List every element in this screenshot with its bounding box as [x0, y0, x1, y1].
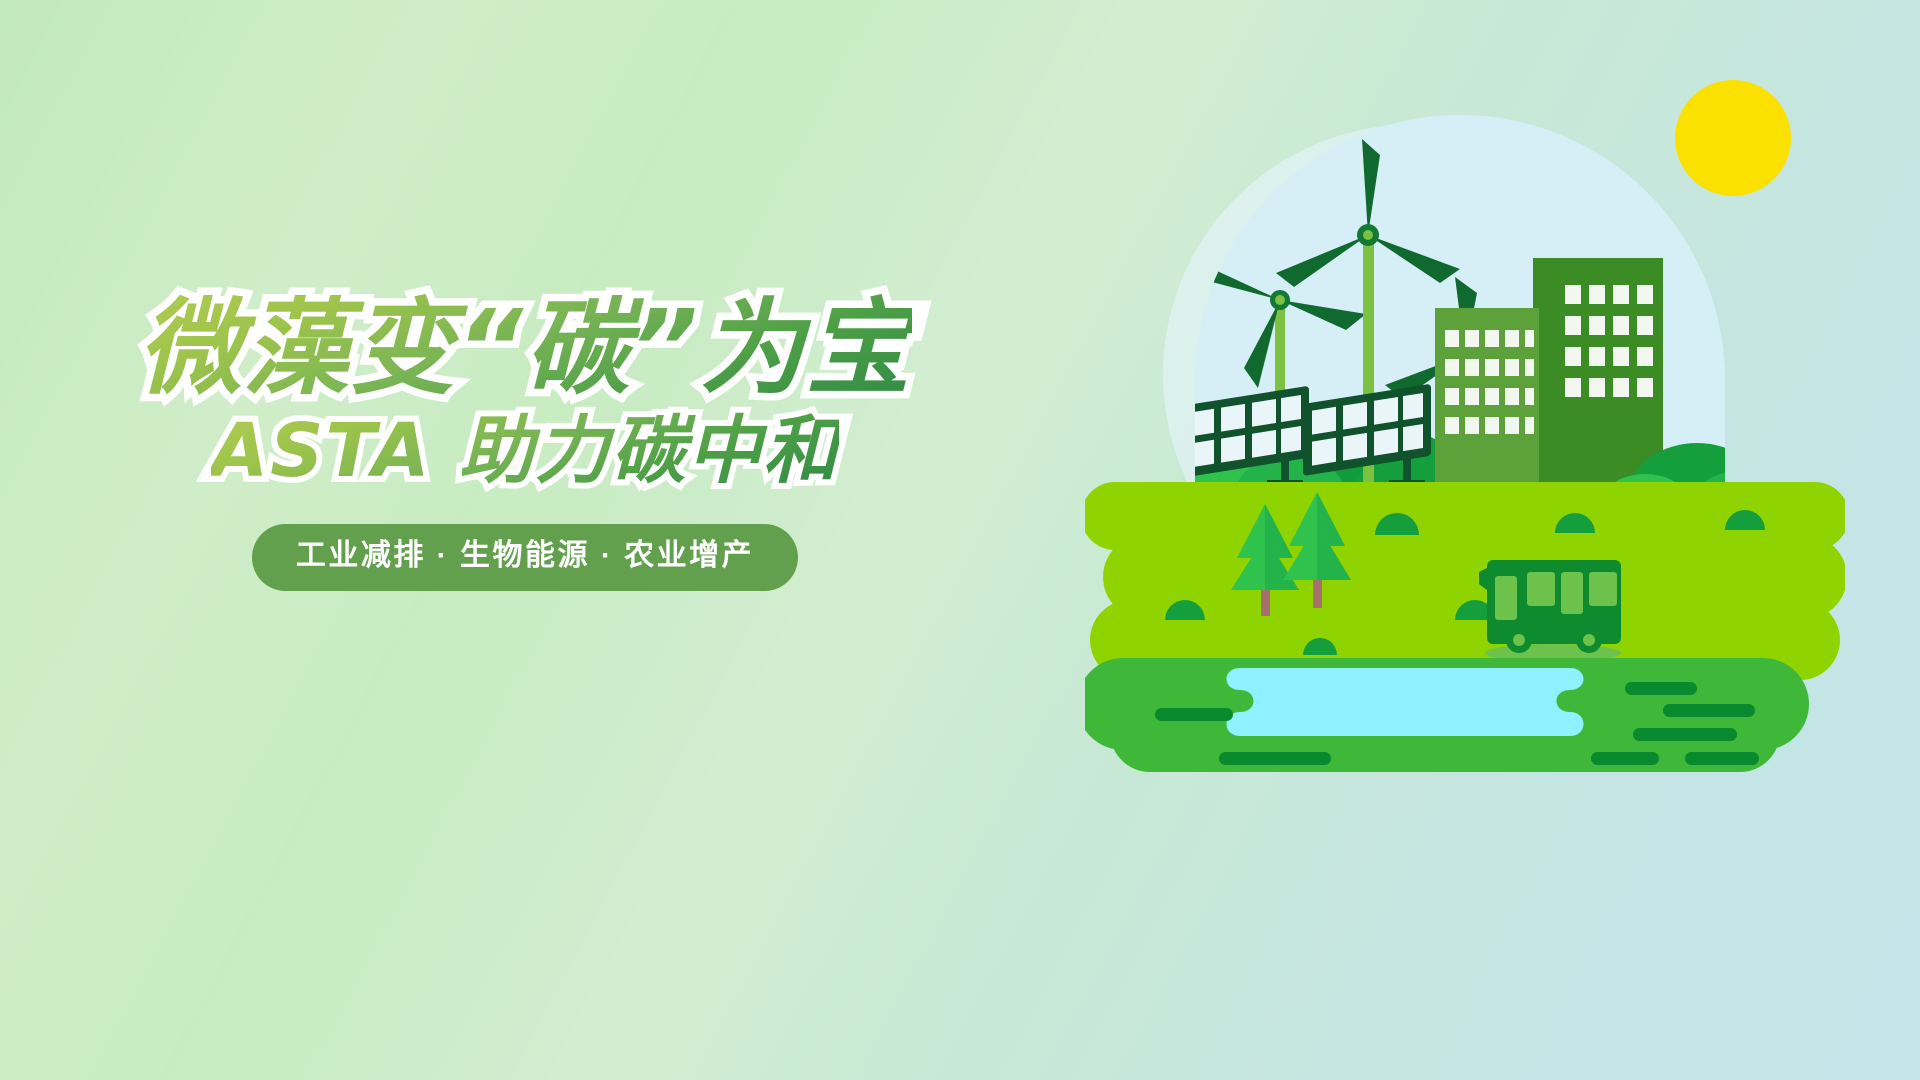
tagline-pill: 工业减排 · 生物能源 · 农业增产 — [252, 524, 798, 591]
ground-layers — [1085, 482, 1845, 680]
page-subtitle: ASTA 助力碳中和 ASTA 助力碳中和 — [211, 414, 839, 488]
headline-sub-fill: ASTA 助力碳中和 — [211, 408, 839, 494]
water-pond — [1227, 668, 1584, 736]
headline-text-block: 微藻变“碳”为宝 微藻变“碳”为宝 ASTA 助力碳中和 ASTA 助力碳中和 … — [0, 296, 1050, 591]
headline-sub-wrap: ASTA 助力碳中和 ASTA 助力碳中和 — [0, 400, 1050, 488]
sun-icon — [1675, 80, 1791, 196]
eco-banner: 微藻变“碳”为宝 微藻变“碳”为宝 ASTA 助力碳中和 ASTA 助力碳中和 … — [0, 0, 1920, 1080]
headline-main-fill: 微藻变“碳”为宝 — [138, 287, 912, 409]
headline-main-wrap: 微藻变“碳”为宝 微藻变“碳”为宝 — [0, 296, 1050, 400]
page-title: 微藻变“碳”为宝 微藻变“碳”为宝 — [138, 296, 912, 400]
eco-city-illustration — [1085, 80, 1845, 800]
water-base — [1085, 658, 1809, 772]
tagline-row: 工业减排 · 生物能源 · 农业增产 — [0, 488, 1050, 591]
